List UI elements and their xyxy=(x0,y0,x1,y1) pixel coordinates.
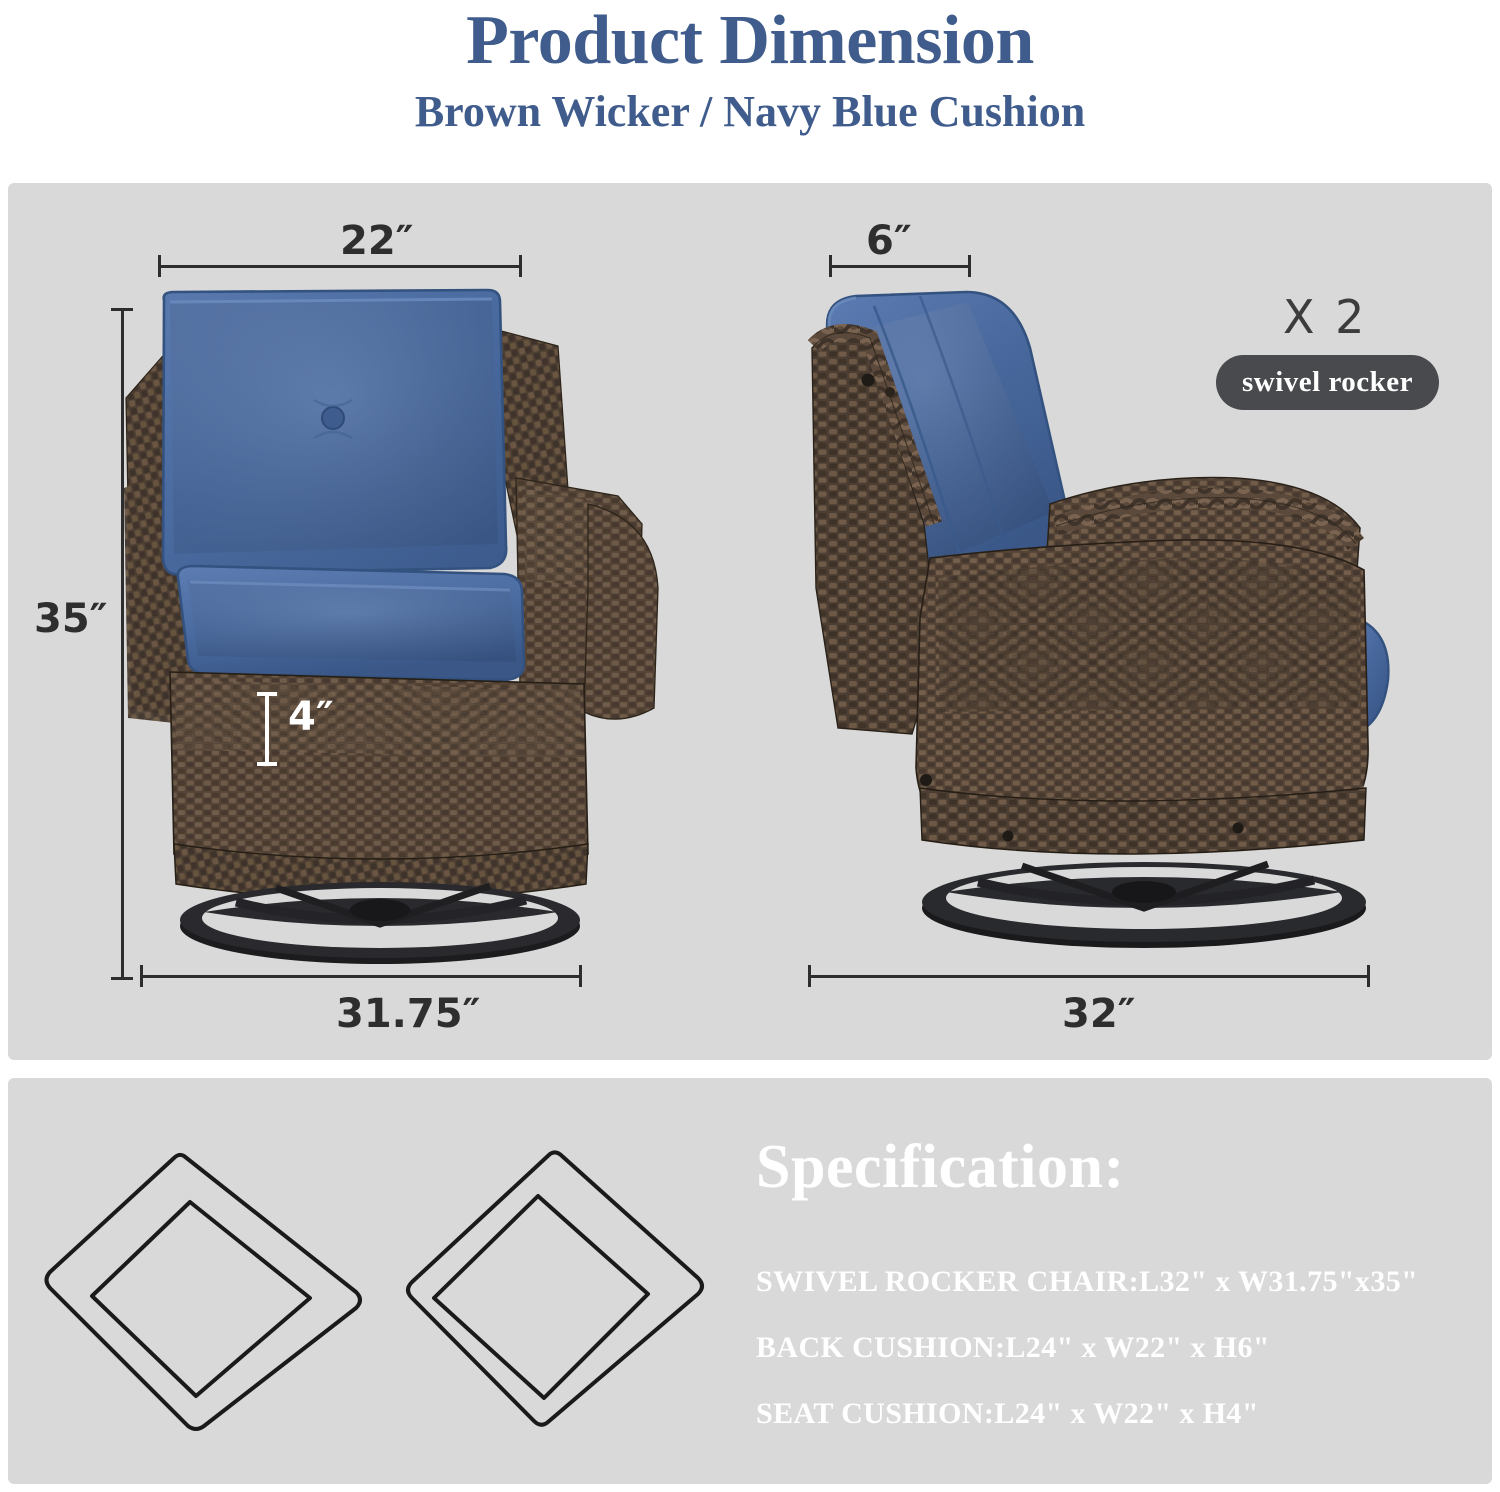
dimension-line-height-left xyxy=(121,308,124,980)
spec-line-chair: SWIVEL ROCKER CHAIR:L32" x W31.75"x35" xyxy=(756,1249,1476,1315)
dimension-cap-bottom xyxy=(111,977,133,980)
quantity-badge: X 2 xyxy=(1283,290,1367,344)
dimension-label-seat-thickness: 4″ xyxy=(288,694,334,740)
dimension-label-width-top: 22″ xyxy=(340,218,414,264)
spec-line-seat-cushion: SEAT CUSHION:L24" x W22" x H4" xyxy=(756,1381,1476,1447)
cushion-top-view-right xyxy=(398,1146,716,1436)
dimension-label-height-left: 35″ xyxy=(34,596,108,642)
specification-heading: Specification: xyxy=(756,1132,1125,1203)
dimension-cap-back-right xyxy=(968,255,971,277)
dimension-cap-seat-bottom xyxy=(257,762,277,766)
dimension-cap-left xyxy=(158,255,161,277)
dimension-cap-depth-left xyxy=(808,965,811,987)
dimension-label-back-thickness: 6″ xyxy=(866,218,912,264)
dimension-label-width-bottom: 31.75″ xyxy=(336,991,480,1037)
specification-list: SWIVEL ROCKER CHAIR:L32" x W31.75"x35" B… xyxy=(756,1249,1476,1447)
infographic-page: Product Dimension Brown Wicker / Navy Bl… xyxy=(0,0,1500,1492)
dimension-cap-bottom-left xyxy=(140,965,143,987)
dimension-cap-back-left xyxy=(829,255,832,277)
page-title: Product Dimension xyxy=(0,0,1500,76)
header: Product Dimension Brown Wicker / Navy Bl… xyxy=(0,0,1500,180)
dimension-line-depth-bottom xyxy=(808,975,1370,978)
spec-line-back-cushion: BACK CUSHION:L24" x W22" x H6" xyxy=(756,1315,1476,1381)
cushion-top-view-left xyxy=(38,1146,368,1436)
swivel-rocker-pill: swivel rocker xyxy=(1216,355,1439,410)
page-subtitle: Brown Wicker / Navy Blue Cushion xyxy=(0,76,1500,134)
dimension-line-width-top xyxy=(158,265,522,268)
dimension-line-seat-thickness xyxy=(265,692,269,766)
dimension-cap-depth-right xyxy=(1367,965,1370,987)
dimension-cap-top xyxy=(111,308,133,311)
dimension-cap-bottom-right xyxy=(579,965,582,987)
dimension-cap-right xyxy=(519,255,522,277)
dimension-label-depth-bottom: 32″ xyxy=(1062,991,1136,1037)
dimension-cap-seat-top xyxy=(257,692,277,696)
swivel-rocker-front-view xyxy=(118,288,670,978)
dimension-line-width-bottom xyxy=(140,975,582,978)
dimension-line-back-thickness xyxy=(829,265,971,268)
